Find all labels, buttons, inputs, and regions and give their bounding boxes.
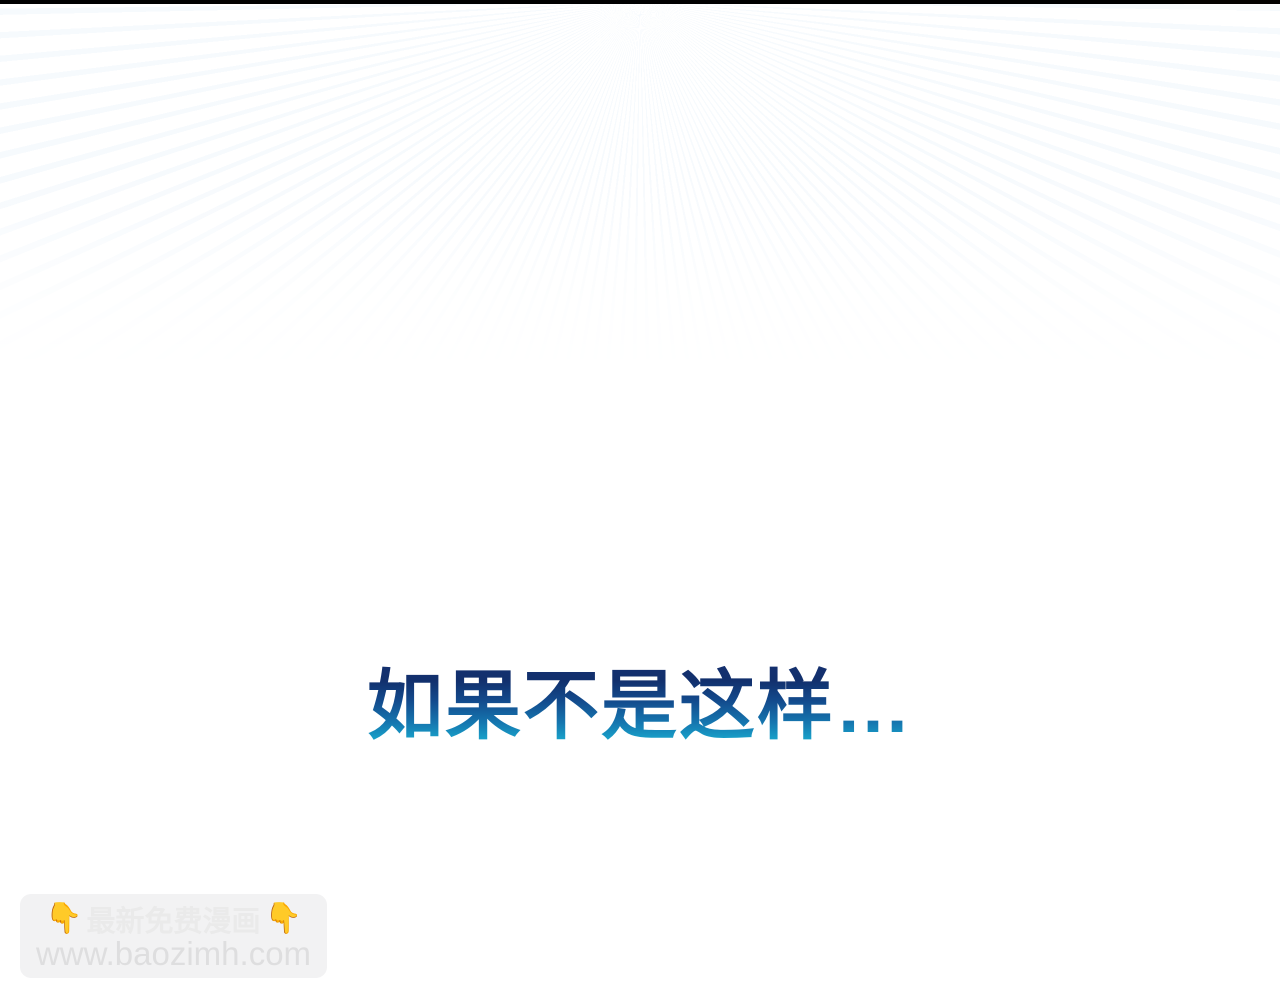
watermark-url[interactable]: www.baozimh.com (20, 935, 327, 973)
watermark-promo-text: 最新免费漫画 (86, 898, 260, 940)
caption-text: 如果不是这样… (367, 666, 913, 748)
watermark-promo-row: 👇 最新免费漫画 👇 (20, 899, 327, 939)
comic-panel-page: 如果不是这样… 👇 最新免费漫画 👇 www.baozimh.com (0, 0, 1280, 1000)
top-black-bar (0, 0, 1280, 4)
pointing-down-hand-icon-right: 👇 (265, 904, 302, 934)
site-watermark-badge[interactable]: 👇 最新免费漫画 👇 www.baozimh.com (20, 894, 327, 978)
pointing-down-hand-icon-left: 👇 (45, 904, 82, 934)
texture-radial-burst (0, 3, 1280, 403)
panel-caption: 如果不是这样… (0, 666, 1280, 748)
background-screentone-texture (0, 3, 1280, 403)
